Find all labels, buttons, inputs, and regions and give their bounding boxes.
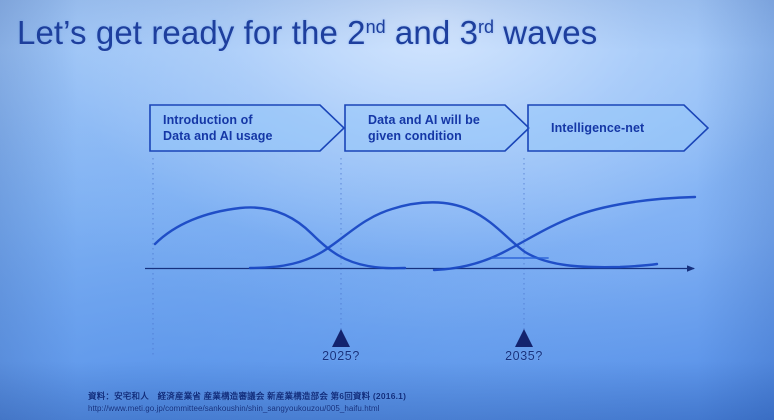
wave-curve-3 xyxy=(434,197,695,270)
phase-chevron-1-line2: Data and AI usage xyxy=(163,128,345,144)
phase-chevron-1-line1: Introduction of xyxy=(163,112,345,128)
source-citation: 資料：安宅和人 経済産業省 産業構造審議会 新産業構造部会 第6回資料 (201… xyxy=(88,391,406,414)
year-marker-2025-icon xyxy=(332,329,350,347)
phase-chevron-2-line1: Data and AI will be xyxy=(368,112,530,128)
year-label-2035: 2035? xyxy=(505,349,543,363)
wave-curve-1 xyxy=(155,207,405,268)
year-label-2025: 2025? xyxy=(322,349,360,363)
phase-chevron-2-line2: given condition xyxy=(368,128,530,144)
wave-curve-2 xyxy=(250,202,657,268)
wave-diagram xyxy=(0,0,774,420)
source-citation-url[interactable]: http://www.meti.go.jp/committee/sankoush… xyxy=(88,403,406,414)
phase-chevron-3-line1: Intelligence-net xyxy=(551,120,709,136)
year-marker-2035-icon xyxy=(515,329,533,347)
presentation-slide: Let’s get ready for the 2nd and 3rd wave… xyxy=(0,0,774,420)
source-citation-line1: 資料：安宅和人 経済産業省 産業構造審議会 新産業構造部会 第6回資料 (201… xyxy=(88,391,406,402)
